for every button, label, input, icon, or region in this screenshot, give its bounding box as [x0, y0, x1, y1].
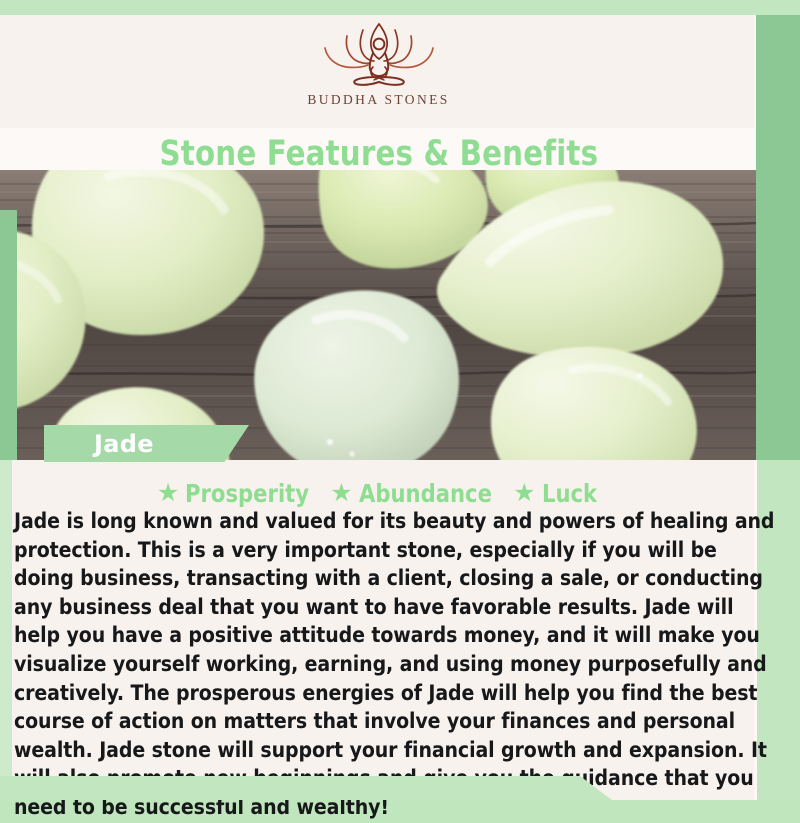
- stone-name-label: Jade: [44, 425, 249, 462]
- star-icon: ★: [330, 481, 352, 506]
- benefit-item: ★ Prosperity: [157, 479, 317, 508]
- benefit-label: Prosperity: [185, 479, 309, 508]
- stone-photo: [0, 170, 757, 460]
- benefits-row: ★ Prosperity ★ Abundance ★ Luck: [0, 479, 757, 508]
- star-icon: ★: [513, 481, 535, 506]
- right-accent-bar: [756, 15, 800, 460]
- stone-photo-illustration: [0, 170, 757, 460]
- lotus-meditation-icon: [313, 20, 445, 86]
- brand-name: BUDDHA STONES: [307, 92, 449, 108]
- star-icon: ★: [157, 481, 179, 506]
- benefit-item: ★ Abundance: [330, 479, 500, 508]
- benefit-label: Luck: [542, 479, 597, 508]
- benefit-label: Abundance: [359, 479, 492, 508]
- benefit-item: ★ Luck: [513, 479, 600, 508]
- left-accent-bar: [0, 210, 17, 460]
- page-title: Stone Features & Benefits: [159, 134, 598, 174]
- stone-description: Jade is long known and valued for its be…: [14, 508, 774, 823]
- brand-logo-block: BUDDHA STONES: [0, 20, 757, 108]
- stone-name: Jade: [94, 430, 154, 458]
